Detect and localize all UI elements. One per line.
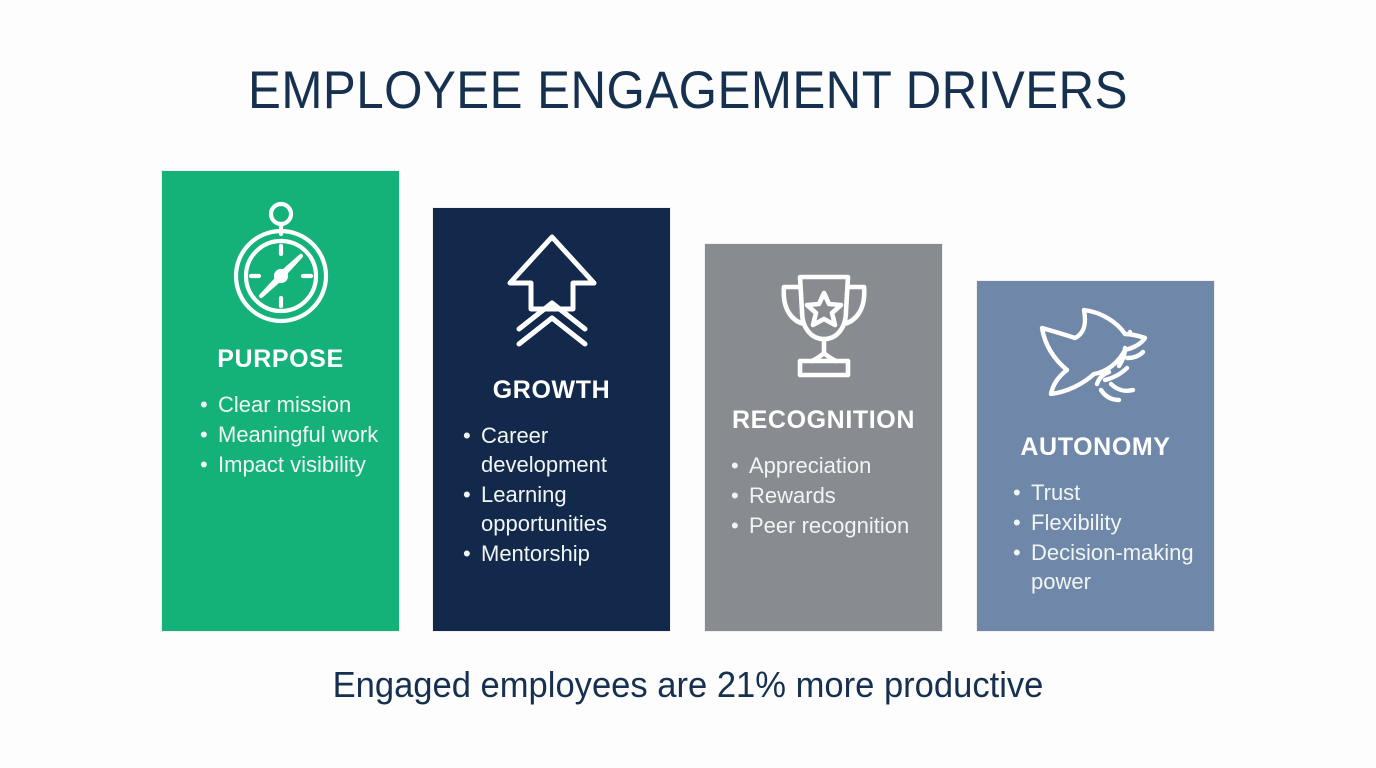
- bullet-list-autonomy: Trust Flexibility Decision-making power: [977, 478, 1214, 597]
- dove-olive-branch-icon: [977, 303, 1214, 411]
- list-item: Flexibility: [1011, 508, 1214, 537]
- bar-purpose[interactable]: PURPOSE Clear mission Meaningful work Im…: [162, 171, 399, 631]
- bar-label-autonomy: AUTONOMY: [977, 433, 1214, 462]
- list-item: Meaningful work: [198, 420, 399, 449]
- bar-chart: PURPOSE Clear mission Meaningful work Im…: [0, 0, 1376, 768]
- list-item: Impact visibility: [198, 450, 399, 479]
- list-item: Trust: [1011, 478, 1214, 507]
- footer-statistic: Engaged employees are 21% more productiv…: [28, 662, 1349, 708]
- bar-growth[interactable]: GROWTH Career development Learning oppor…: [433, 208, 670, 631]
- list-item: Mentorship: [461, 539, 670, 568]
- bullet-list-growth: Career development Learning opportunitie…: [433, 421, 670, 569]
- list-item: Career development: [461, 421, 670, 479]
- list-item: Peer recognition: [729, 511, 942, 540]
- compass-icon: [162, 197, 399, 327]
- list-item: Appreciation: [729, 451, 942, 480]
- list-item: Learning opportunities: [461, 480, 670, 538]
- bar-label-purpose: PURPOSE: [162, 345, 399, 374]
- bullet-list-purpose: Clear mission Meaningful work Impact vis…: [162, 390, 399, 480]
- bar-autonomy[interactable]: AUTONOMY Trust Flexibility Decision-maki…: [977, 281, 1214, 631]
- bar-label-growth: GROWTH: [433, 376, 670, 405]
- list-item: Rewards: [729, 481, 942, 510]
- infographic-slide: EMPLOYEE ENGAGEMENT DRIVERS: [0, 0, 1376, 768]
- up-arrow-chevrons-icon: [433, 230, 670, 354]
- list-item: Decision-making power: [1011, 538, 1214, 596]
- bullet-list-recognition: Appreciation Rewards Peer recognition: [705, 451, 942, 541]
- list-item: Clear mission: [198, 390, 399, 419]
- trophy-icon: [705, 266, 942, 384]
- bar-recognition[interactable]: RECOGNITION Appreciation Rewards Peer re…: [705, 244, 942, 631]
- bar-label-recognition: RECOGNITION: [705, 406, 942, 435]
